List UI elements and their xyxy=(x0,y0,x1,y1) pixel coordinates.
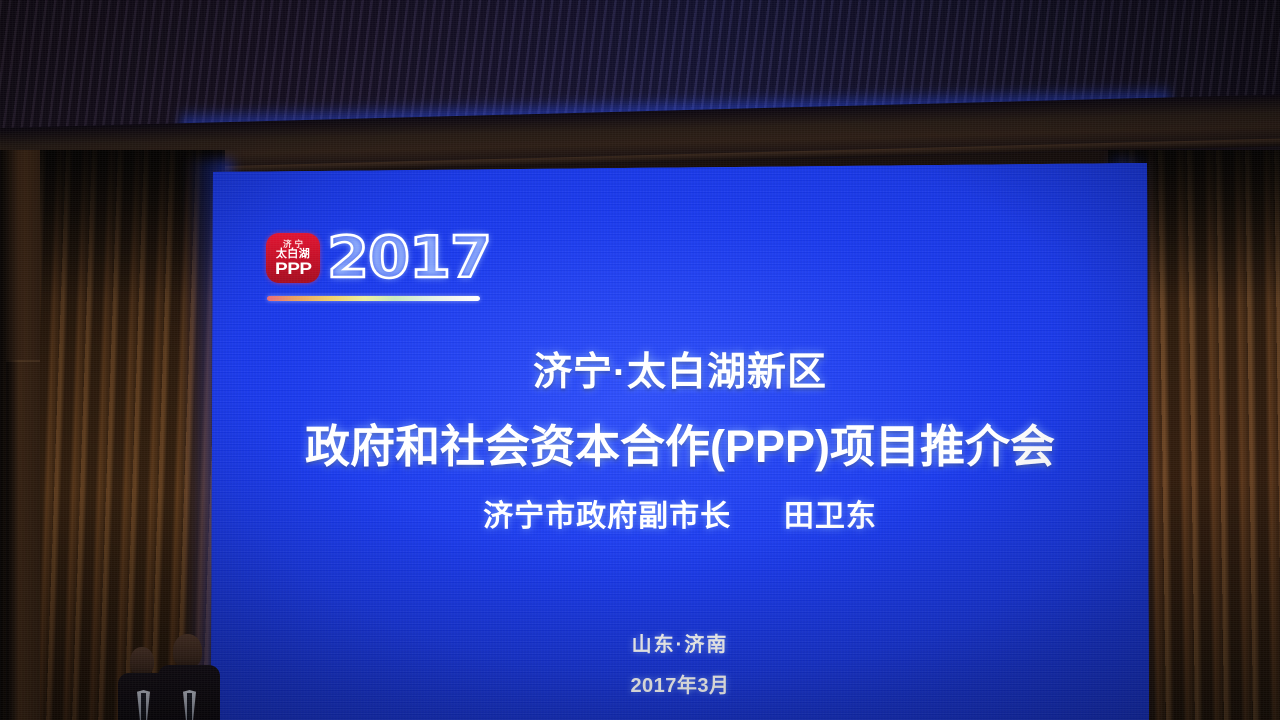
presentation-title-slide: 济宁 太白湖 PPP 2017 济宁·太白湖新区 政府和社会资本合作(PPP)项… xyxy=(211,163,1149,720)
presenter-name: 田卫东 xyxy=(784,500,877,533)
left-wall-shadow xyxy=(0,150,18,720)
audience-attendees xyxy=(118,632,238,720)
attendee-back-head xyxy=(130,647,154,676)
presenter-line: 济宁市政府副市长 田卫东 xyxy=(211,491,1149,535)
attendee-front-suit xyxy=(158,665,220,720)
badge-city-label: 济宁 xyxy=(280,240,306,249)
year-2017-outline-text: 2017 xyxy=(327,234,491,283)
attendee-front-head xyxy=(173,634,202,668)
footer-date: 2017年3月 xyxy=(211,669,1149,698)
projection-screen: 济宁 太白湖 PPP 2017 济宁·太白湖新区 政府和社会资本合作(PPP)项… xyxy=(211,163,1149,720)
slide-title-line-2: 政府和社会资本合作(PPP)项目推介会 xyxy=(211,410,1149,475)
conference-photo-stage: 济宁 太白湖 PPP 2017 济宁·太白湖新区 政府和社会资本合作(PPP)项… xyxy=(0,0,1280,720)
ppp-logo-badge: 济宁 太白湖 PPP xyxy=(266,233,320,283)
presenter-title: 济宁市政府副市长 xyxy=(483,500,731,533)
gradient-accent-bar xyxy=(267,296,480,301)
attendee-front-tie xyxy=(187,693,192,720)
slide-title-block: 济宁·太白湖新区 政府和社会资本合作(PPP)项目推介会 xyxy=(211,341,1149,475)
slide-title-line-1: 济宁·太白湖新区 xyxy=(211,341,1149,397)
attendee-back-tie xyxy=(141,693,146,720)
slide-footer: 山东·济南 2017年3月 xyxy=(211,628,1149,698)
footer-location: 山东·济南 xyxy=(211,628,1149,657)
badge-ppp-label: PPP xyxy=(275,260,311,277)
event-logo: 济宁 太白湖 PPP 2017 xyxy=(266,233,482,283)
